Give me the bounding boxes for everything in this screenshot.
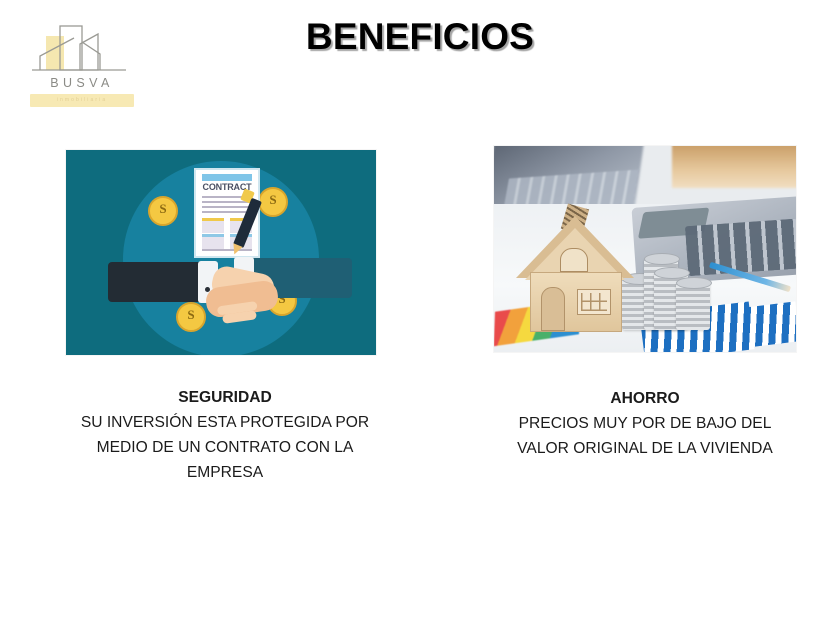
house-model-finance-photo — [494, 146, 796, 352]
handshake-contract-illustration: S S S S CONTRACT — [66, 150, 376, 355]
benefit-line: PRECIOS MUY POR DE BAJO DEL — [460, 411, 830, 436]
house-window — [577, 289, 611, 315]
benefit-caption-seguridad: SEGURIDAD SU INVERSIÓN ESTA PROTEGIDA PO… — [40, 385, 410, 485]
document-header-band — [202, 174, 252, 181]
logo-wordmark: BUSVA — [22, 76, 142, 90]
benefit-line: EMPRESA — [40, 460, 410, 485]
benefit-panel-seguridad: S S S S CONTRACT — [40, 150, 410, 485]
house-body — [530, 272, 622, 332]
attic-window — [560, 248, 588, 272]
benefit-line: MEDIO DE UN CONTRATO CON LA — [40, 435, 410, 460]
coin-icon: S — [176, 302, 206, 332]
benefit-line: SU INVERSIÓN ESTA PROTEGIDA POR — [40, 410, 410, 435]
benefit-heading: AHORRO — [460, 386, 830, 411]
coin-stack — [676, 282, 710, 330]
calculator-keys — [685, 219, 796, 277]
title-underline-rule — [168, 61, 680, 66]
window-grid — [581, 293, 607, 311]
house-door — [541, 287, 565, 331]
house-model-object — [516, 208, 634, 330]
benefit-line: VALOR ORIGINAL DE LA VIVIENDA — [460, 436, 830, 461]
slide-canvas: BUSVA inmobiliaria BENEFICIOS S S S S CO… — [0, 0, 840, 630]
coin-icon: S — [258, 187, 288, 217]
left-sleeve — [108, 262, 204, 302]
benefit-caption-ahorro: AHORRO PRECIOS MUY POR DE BAJO DEL VALOR… — [460, 386, 830, 461]
page-title: BENEFICIOS — [0, 16, 840, 58]
benefit-panel-ahorro: AHORRO PRECIOS MUY POR DE BAJO DEL VALOR… — [460, 146, 830, 461]
coin-icon: S — [148, 196, 178, 226]
benefit-heading: SEGURIDAD — [40, 385, 410, 410]
wood-surface — [672, 146, 796, 188]
logo-tagline: inmobiliaria — [30, 94, 134, 107]
